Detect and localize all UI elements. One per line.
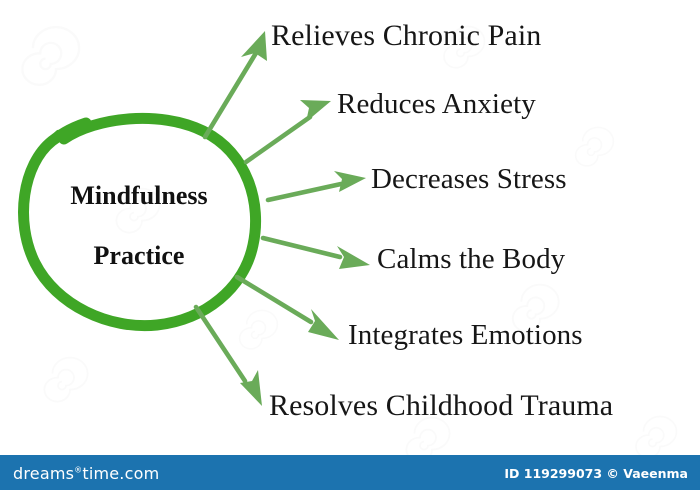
branch-label-reduces-anxiety: Reduces Anxiety	[337, 90, 536, 119]
branch-label-relieves-chronic-pain: Relieves Chronic Pain	[271, 21, 541, 51]
dreamstime-logo-text: dreams®time.com	[13, 464, 159, 483]
arrow-to-calms-the-body	[263, 238, 370, 269]
spiral-watermark-icon	[576, 127, 614, 165]
arrow-to-resolves-childhood-trauma	[196, 307, 262, 406]
center-node-line-2: Practice	[23, 243, 255, 269]
image-id-credit: ID 119299073 © Vaeenma	[504, 466, 688, 481]
arrow-to-reduces-anxiety	[246, 100, 331, 162]
center-circle-shape	[24, 118, 256, 325]
center-node-line-1: Mindfulness	[23, 183, 255, 209]
spiral-watermark-icon	[44, 358, 87, 402]
spiral-watermark-icon	[240, 310, 278, 348]
branch-label-integrates-emotions: Integrates Emotions	[348, 321, 583, 350]
arrow-to-integrates-emotions	[237, 277, 339, 340]
branch-label-resolves-childhood-trauma: Resolves Childhood Trauma	[269, 391, 613, 421]
branch-label-calms-the-body: Calms the Body	[377, 245, 565, 274]
diagram-canvas: Mindfulness Practice Relieves Chronic Pa…	[0, 0, 700, 490]
branch-label-decreases-stress: Decreases Stress	[371, 165, 567, 194]
spiral-watermark-icon	[636, 417, 677, 458]
dreamstime-logo[interactable]: dreams®time.com	[13, 464, 159, 483]
arrow-to-decreases-stress	[268, 171, 366, 200]
spiral-watermark-icon	[22, 27, 79, 85]
arrow-to-relieves-chronic-pain	[205, 31, 267, 137]
